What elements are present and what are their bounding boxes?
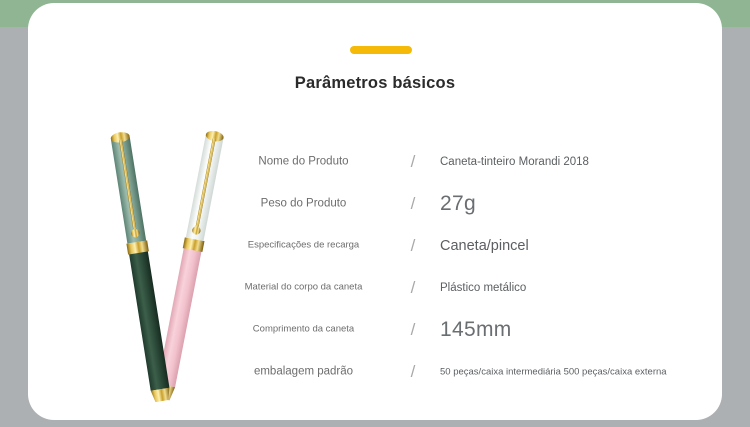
spec-label: embalagem padrão (233, 366, 374, 379)
table-row: Especificações de recarga / Caneta/pince… (233, 225, 703, 267)
spec-separator: / (403, 362, 423, 382)
spec-separator: / (403, 152, 423, 172)
spec-label: Nome do Produto (233, 156, 374, 169)
spec-label: Comprimento da caneta (233, 325, 374, 336)
spec-table: Nome do Produto / Caneta-tinteiro Morand… (233, 141, 703, 393)
spec-value: 27g (440, 192, 703, 216)
spec-value: Caneta/pincel (440, 238, 703, 254)
spec-label: Especificações de recarga (233, 241, 374, 252)
spec-separator: / (403, 278, 423, 298)
spec-label: Material do corpo da caneta (233, 283, 374, 294)
spec-value: 50 peças/caixa intermediária 500 peças/c… (440, 367, 703, 378)
spec-label: Peso do Produto (233, 198, 374, 211)
table-row: Nome do Produto / Caneta-tinteiro Morand… (233, 141, 703, 183)
crossed-pens-illustration (80, 103, 240, 403)
spec-separator: / (403, 320, 423, 340)
table-row: embalagem padrão / 50 peças/caixa interm… (233, 351, 703, 393)
spec-separator: / (403, 236, 423, 256)
product-image (80, 103, 240, 403)
product-spec-page: Parâmetros básicos (0, 0, 750, 427)
spec-value: 145mm (440, 318, 703, 342)
pen-green (109, 131, 172, 403)
content-card: Parâmetros básicos (28, 3, 722, 420)
spec-value: Caneta-tinteiro Morandi 2018 (440, 156, 703, 168)
page-title: Parâmetros básicos (28, 74, 722, 93)
table-row: Peso do Produto / 27g (233, 183, 703, 225)
table-row: Comprimento da caneta / 145mm (233, 309, 703, 351)
table-row: Material do corpo da caneta / Plástico m… (233, 267, 703, 309)
spec-value: Plástico metálico (440, 282, 703, 294)
accent-bar (350, 46, 412, 54)
spec-separator: / (403, 194, 423, 214)
